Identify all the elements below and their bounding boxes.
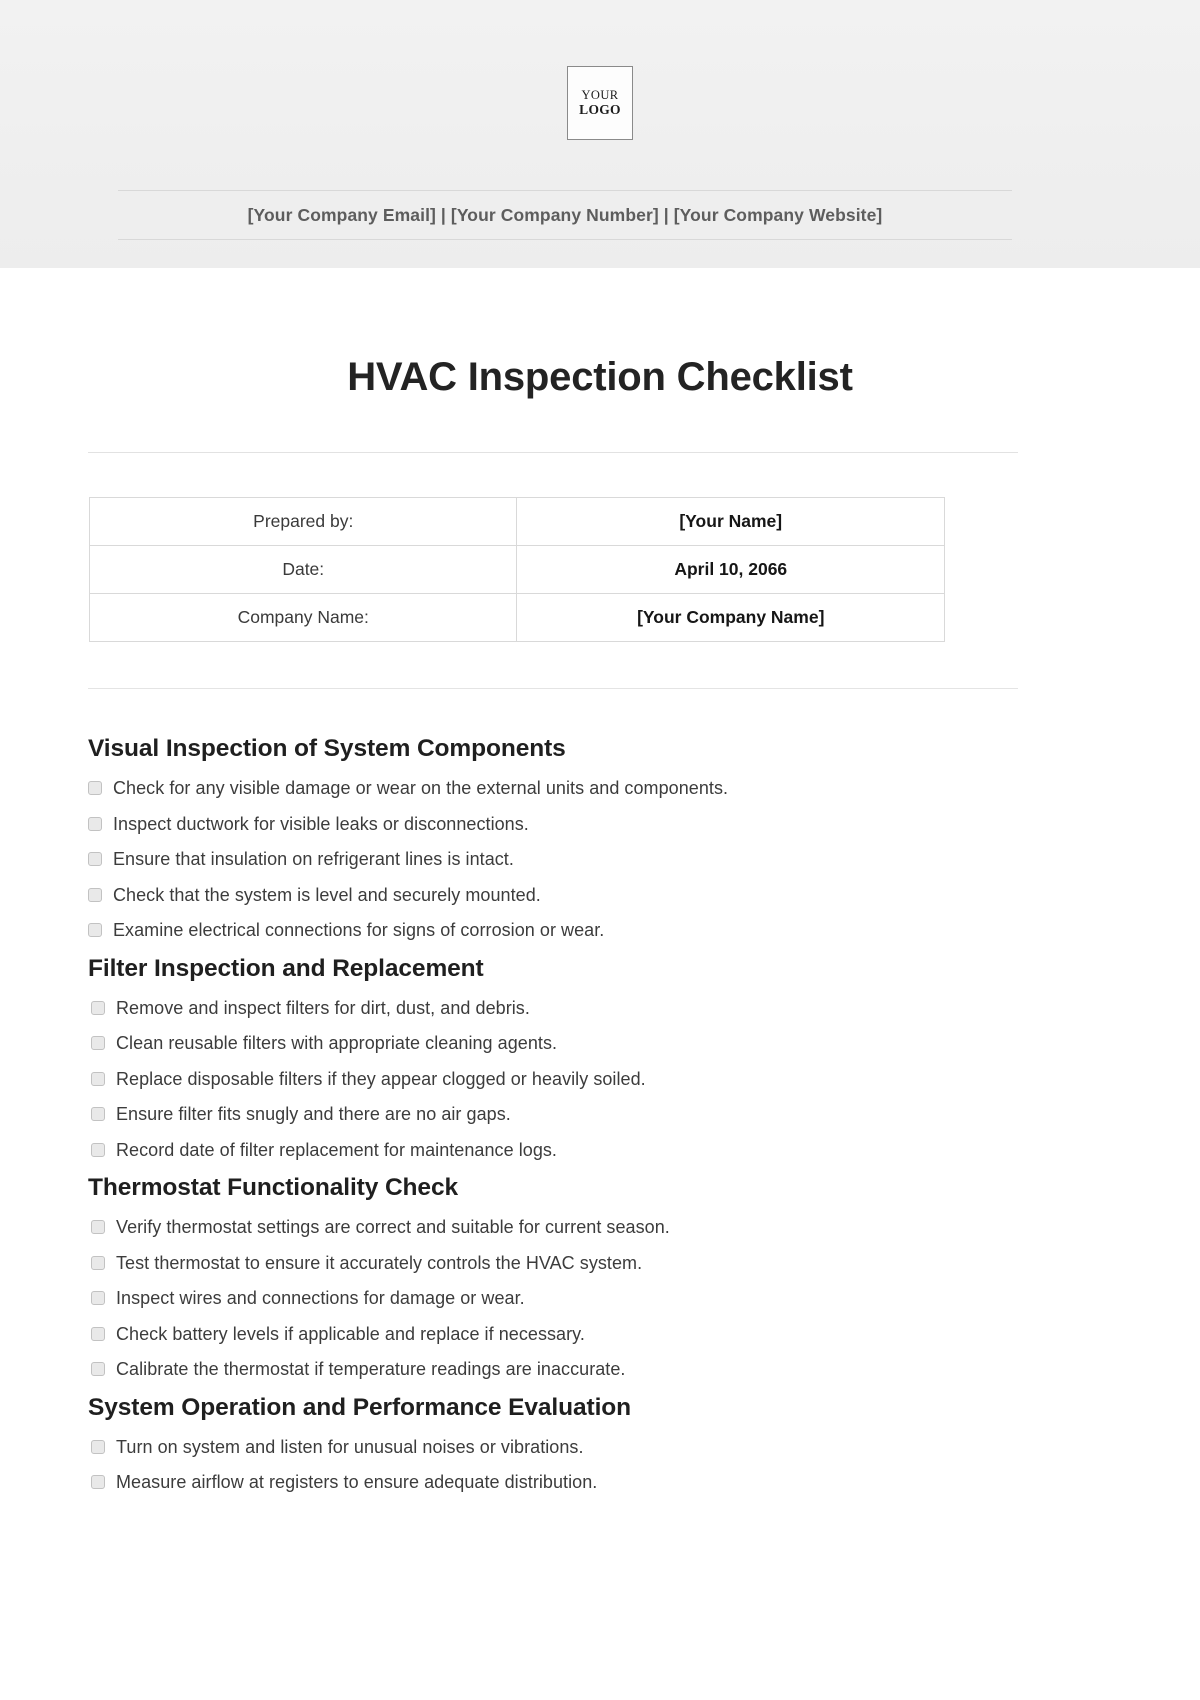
checklist-items: Verify thermostat settings are correct a…	[88, 1216, 1118, 1381]
checklist-item-label: Examine electrical connections for signs…	[113, 919, 604, 942]
info-value-company-name[interactable]: [Your Company Name]	[517, 594, 945, 642]
checklist-item-label: Measure airflow at registers to ensure a…	[116, 1471, 597, 1494]
section-heading: Visual Inspection of System Components	[88, 735, 1118, 763]
info-label-company-name: Company Name:	[90, 594, 517, 642]
checklist-items: Turn on system and listen for unusual no…	[88, 1436, 1118, 1494]
checkbox-icon[interactable]	[91, 1291, 105, 1305]
checkbox-icon[interactable]	[88, 852, 102, 866]
checkbox-icon[interactable]	[91, 1440, 105, 1454]
checklist-items: Remove and inspect filters for dirt, dus…	[88, 997, 1118, 1162]
checklist-item-label: Turn on system and listen for unusual no…	[116, 1436, 584, 1459]
checkbox-icon[interactable]	[91, 1256, 105, 1270]
list-item[interactable]: Measure airflow at registers to ensure a…	[91, 1471, 1118, 1494]
checklist-item-label: Remove and inspect filters for dirt, dus…	[116, 997, 530, 1020]
list-item[interactable]: Test thermostat to ensure it accurately …	[91, 1252, 1118, 1275]
checklist-item-label: Calibrate the thermostat if temperature …	[116, 1358, 625, 1381]
list-item[interactable]: Clean reusable filters with appropriate …	[91, 1032, 1118, 1055]
info-value-prepared-by[interactable]: [Your Name]	[517, 498, 945, 546]
checkbox-icon[interactable]	[88, 817, 102, 831]
list-item[interactable]: Record date of filter replacement for ma…	[91, 1139, 1118, 1162]
section-visual-inspection: Visual Inspection of System Components C…	[88, 735, 1118, 942]
list-item[interactable]: Check battery levels if applicable and r…	[91, 1323, 1118, 1346]
section-heading: Filter Inspection and Replacement	[88, 955, 1118, 983]
page-title: HVAC Inspection Checklist	[0, 355, 1200, 400]
table-row: Date: April 10, 2066	[90, 546, 945, 594]
section-heading: System Operation and Performance Evaluat…	[88, 1394, 1118, 1422]
company-contact-text[interactable]: [Your Company Email] | [Your Company Num…	[118, 205, 1012, 226]
section-thermostat-check: Thermostat Functionality Check Verify th…	[88, 1174, 1118, 1381]
info-label-prepared-by: Prepared by:	[90, 498, 517, 546]
list-item[interactable]: Verify thermostat settings are correct a…	[91, 1216, 1118, 1239]
checkbox-icon[interactable]	[88, 781, 102, 795]
checklist-item-label: Check that the system is level and secur…	[113, 884, 541, 907]
document-info-table: Prepared by: [Your Name] Date: April 10,…	[89, 497, 945, 642]
section-system-operation: System Operation and Performance Evaluat…	[88, 1394, 1118, 1494]
checklist-item-label: Clean reusable filters with appropriate …	[116, 1032, 557, 1055]
list-item[interactable]: Inspect wires and connections for damage…	[91, 1287, 1118, 1310]
list-item[interactable]: Check that the system is level and secur…	[88, 884, 1118, 907]
checkbox-icon[interactable]	[91, 1107, 105, 1121]
table-row: Company Name: [Your Company Name]	[90, 594, 945, 642]
checklist-item-label: Ensure filter fits snugly and there are …	[116, 1103, 511, 1126]
list-item[interactable]: Ensure filter fits snugly and there are …	[91, 1103, 1118, 1126]
checkbox-icon[interactable]	[91, 1327, 105, 1341]
list-item[interactable]: Calibrate the thermostat if temperature …	[91, 1358, 1118, 1381]
logo-container: YOUR LOGO	[0, 66, 1200, 140]
info-value-date[interactable]: April 10, 2066	[517, 546, 945, 594]
checkbox-icon[interactable]	[88, 888, 102, 902]
checklist-item-label: Ensure that insulation on refrigerant li…	[113, 848, 514, 871]
checklist-item-label: Check for any visible damage or wear on …	[113, 777, 728, 800]
list-item[interactable]: Inspect ductwork for visible leaks or di…	[88, 813, 1118, 836]
checklist-item-label: Replace disposable filters if they appea…	[116, 1068, 646, 1091]
info-label-date: Date:	[90, 546, 517, 594]
list-item[interactable]: Turn on system and listen for unusual no…	[91, 1436, 1118, 1459]
checkbox-icon[interactable]	[91, 1475, 105, 1489]
checklist-item-label: Inspect wires and connections for damage…	[116, 1287, 525, 1310]
document-header-band: YOUR LOGO [Your Company Email] | [Your C…	[0, 0, 1200, 268]
checkbox-icon[interactable]	[91, 1362, 105, 1376]
checklist-content: Visual Inspection of System Components C…	[88, 735, 1118, 1507]
checklist-item-label: Record date of filter replacement for ma…	[116, 1139, 557, 1162]
checklist-items: Check for any visible damage or wear on …	[88, 777, 1118, 942]
checklist-item-label: Check battery levels if applicable and r…	[116, 1323, 585, 1346]
checkbox-icon[interactable]	[91, 1001, 105, 1015]
checklist-item-label: Test thermostat to ensure it accurately …	[116, 1252, 642, 1275]
checklist-item-label: Verify thermostat settings are correct a…	[116, 1216, 670, 1239]
checkbox-icon[interactable]	[91, 1036, 105, 1050]
list-item[interactable]: Check for any visible damage or wear on …	[88, 777, 1118, 800]
checklist-item-label: Inspect ductwork for visible leaks or di…	[113, 813, 529, 836]
info-table-body: Prepared by: [Your Name] Date: April 10,…	[90, 498, 945, 642]
logo-line-1: YOUR	[581, 88, 618, 102]
table-row: Prepared by: [Your Name]	[90, 498, 945, 546]
document-page: YOUR LOGO [Your Company Email] | [Your C…	[0, 0, 1200, 1700]
content-divider	[88, 688, 1018, 689]
title-divider	[88, 452, 1018, 453]
company-logo-placeholder[interactable]: YOUR LOGO	[567, 66, 633, 140]
list-item[interactable]: Replace disposable filters if they appea…	[91, 1068, 1118, 1091]
section-heading: Thermostat Functionality Check	[88, 1174, 1118, 1202]
checkbox-icon[interactable]	[91, 1220, 105, 1234]
checkbox-icon[interactable]	[91, 1072, 105, 1086]
section-filter-inspection: Filter Inspection and Replacement Remove…	[88, 955, 1118, 1162]
list-item[interactable]: Remove and inspect filters for dirt, dus…	[91, 997, 1118, 1020]
logo-line-2: LOGO	[579, 102, 621, 117]
list-item[interactable]: Examine electrical connections for signs…	[88, 919, 1118, 942]
list-item[interactable]: Ensure that insulation on refrigerant li…	[88, 848, 1118, 871]
checkbox-icon[interactable]	[91, 1143, 105, 1157]
checkbox-icon[interactable]	[88, 923, 102, 937]
company-contact-strip: [Your Company Email] | [Your Company Num…	[118, 190, 1012, 240]
